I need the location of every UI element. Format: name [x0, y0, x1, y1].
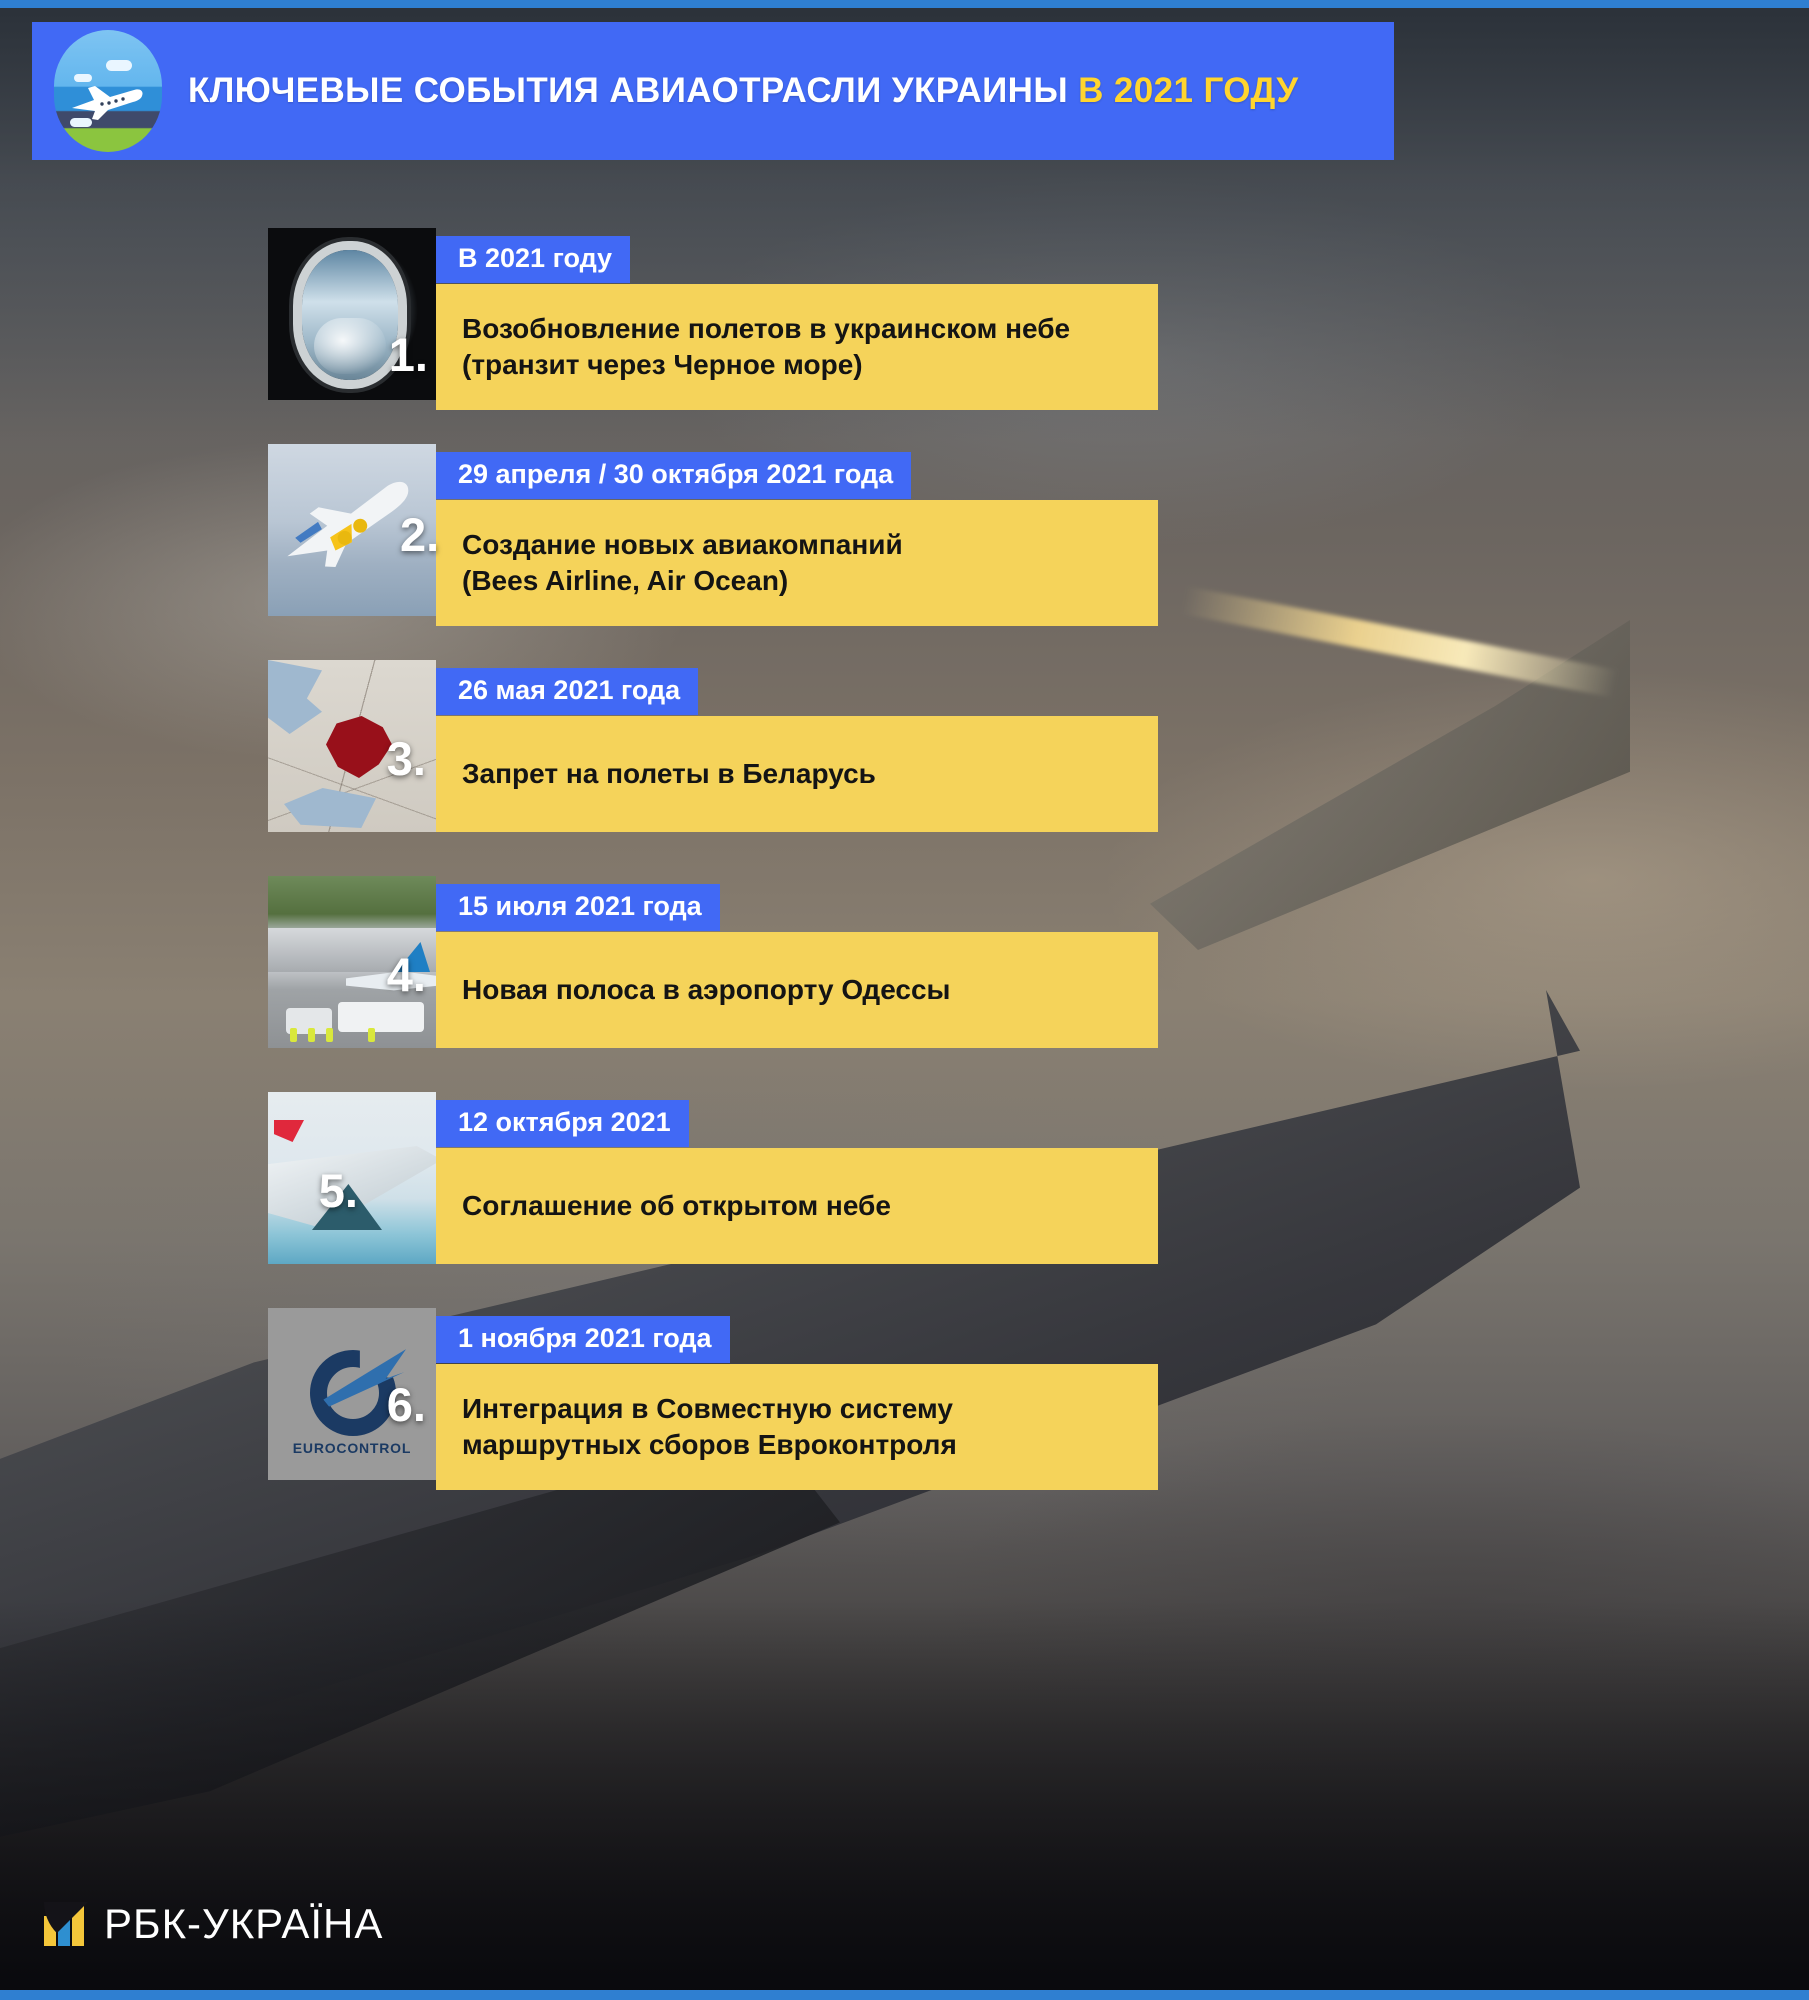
item-number: 4. [387, 947, 426, 1002]
eurocontrol-label: EUROCONTROL [286, 1440, 418, 1456]
airplane-glyph-icon [68, 82, 146, 122]
item-date-badge: 29 апреля / 30 октября 2021 года [436, 452, 911, 499]
item-date-badge: 12 октября 2021 [436, 1100, 689, 1147]
item-body: Создание новых авиакомпаний (Bees Airlin… [436, 500, 1158, 626]
item-date-badge: В 2021 году [436, 236, 630, 283]
item-body: Запрет на полеты в Беларусь [436, 716, 1158, 832]
item-thumbnail: 4. [268, 876, 436, 1048]
item-date-badge: 1 ноября 2021 года [436, 1316, 730, 1363]
list-item: 5. 12 октября 2021 Соглашение об открыто… [268, 1092, 1168, 1272]
item-thumbnail: 3. [268, 660, 436, 832]
events-list: 1. В 2021 году Возобновление полетов в у… [268, 228, 1168, 1524]
item-number: 6. [387, 1377, 426, 1432]
brand-name: РБК-УКРАЇНА [104, 1900, 383, 1948]
footer-brand: РБК-УКРАЇНА [44, 1900, 383, 1948]
item-text: Соглашение об открытом небе [462, 1188, 891, 1224]
title-main-text: КЛЮЧЕВЫЕ СОБЫТИЯ АВИАОТРАСЛИ УКРАИНЫ [188, 71, 1068, 110]
item-date-badge: 26 мая 2021 года [436, 668, 698, 715]
item-thumbnail: EUROCONTROL 6. [268, 1308, 436, 1480]
list-item: 4. 15 июля 2021 года Новая полоса в аэро… [268, 876, 1168, 1056]
item-number: 2. [400, 507, 439, 562]
item-thumbnail: 1. [268, 228, 436, 400]
item-body: Соглашение об открытом небе [436, 1148, 1158, 1264]
list-item: 29 апреля / 30 октября 2021 года Создани… [268, 444, 1168, 624]
airplane-badge-icon [54, 30, 162, 152]
title-accent-text: В 2021 ГОДУ [1078, 71, 1298, 110]
list-item: 1. В 2021 году Возобновление полетов в у… [268, 228, 1168, 408]
item-text: Новая полоса в аэропорту Одессы [462, 972, 950, 1008]
item-number: 3. [387, 731, 426, 786]
item-text: Создание новых авиакомпаний (Bees Airlin… [462, 527, 903, 599]
list-item: 3. 26 мая 2021 года Запрет на полеты в Б… [268, 660, 1168, 840]
frame-top-border [0, 0, 1809, 8]
item-body: Интеграция в Совместную систему маршрутн… [436, 1364, 1158, 1490]
item-body: Возобновление полетов в украинском небе … [436, 284, 1158, 410]
frame-bottom-border [0, 1990, 1809, 2000]
page-title: КЛЮЧЕВЫЕ СОБЫТИЯ АВИАОТРАСЛИ УКРАИНЫ В 2… [188, 72, 1298, 111]
list-item: EUROCONTROL 6. 1 ноября 2021 года Интегр… [268, 1308, 1168, 1488]
item-text: Запрет на полеты в Беларусь [462, 756, 876, 792]
item-text: Интеграция в Совместную систему маршрутн… [462, 1391, 957, 1463]
item-thumbnail: 5. [268, 1092, 436, 1264]
header-banner: КЛЮЧЕВЫЕ СОБЫТИЯ АВИАОТРАСЛИ УКРАИНЫ В 2… [32, 22, 1394, 160]
item-date-badge: 15 июля 2021 года [436, 884, 720, 931]
rbk-bars-icon [44, 1902, 88, 1946]
item-number: 1. [389, 327, 428, 382]
item-number: 5. [319, 1163, 358, 1218]
item-text: Возобновление полетов в украинском небе … [462, 311, 1070, 383]
item-body: Новая полоса в аэропорту Одессы [436, 932, 1158, 1048]
